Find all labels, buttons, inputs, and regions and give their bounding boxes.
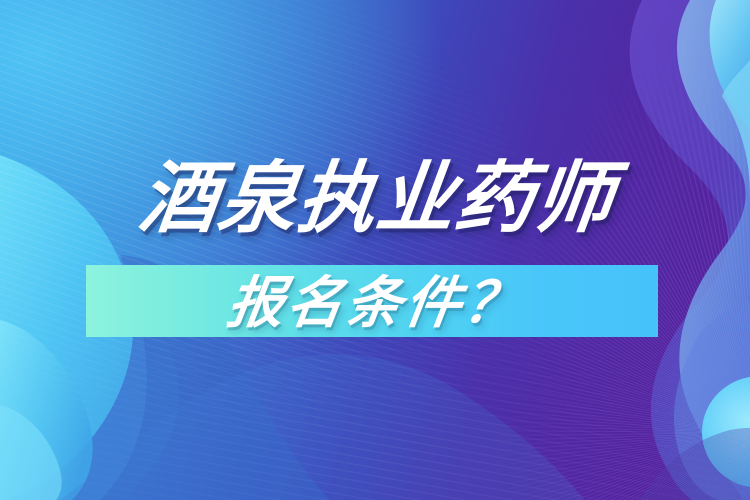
subtitle-text: 报名条件？ [224,272,528,334]
promo-banner: 酒泉执业药师 报名条件？ [0,0,750,500]
text-layer: 酒泉执业药师 报名条件？ [0,0,750,500]
headline-title: 酒泉执业药师 [134,152,619,244]
